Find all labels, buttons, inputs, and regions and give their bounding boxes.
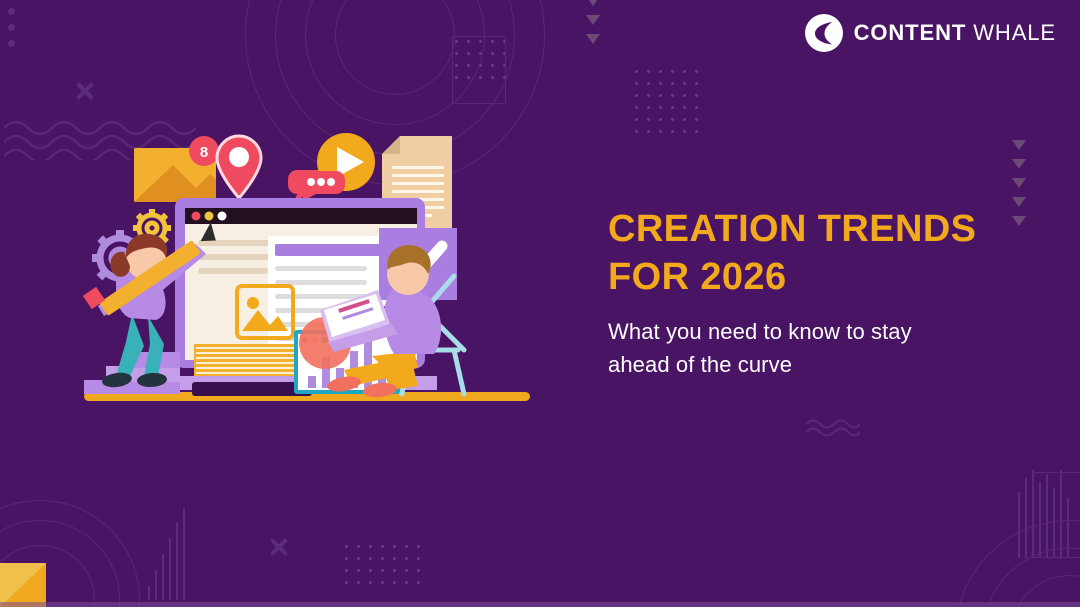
dot-grid-decoration <box>635 70 698 133</box>
triangle-column-decoration <box>586 0 600 44</box>
window-dot-white <box>218 212 227 221</box>
window-dot-red <box>192 212 201 221</box>
window-dot-yellow <box>205 212 214 221</box>
rectangle-outline-decoration <box>452 36 506 104</box>
location-pin-icon <box>217 136 261 198</box>
dot-grid-decoration <box>345 545 420 584</box>
brand-name: CONTENT WHALE <box>854 20 1056 46</box>
vertical-bars-decoration <box>1018 470 1069 558</box>
page-title: CREATION TRENDS FOR 2026 <box>608 205 1028 301</box>
bottom-accent-bar <box>0 602 1080 607</box>
headline-line-2: FOR 2026 <box>608 253 1028 301</box>
brand-logo[interactable]: CONTENT WHALE <box>805 14 1056 52</box>
arc-decoration <box>0 500 140 607</box>
email-envelope-icon: 8 <box>134 136 219 202</box>
dot-column-decoration <box>8 8 15 47</box>
dot-grid-decoration <box>455 40 506 79</box>
x-mark-decoration <box>268 536 290 558</box>
gold-triangle-decoration <box>0 563 46 607</box>
subhead-line-1: What you need to know to stay <box>608 315 1028 348</box>
brand-name-light: WHALE <box>973 20 1056 45</box>
slide-canvas: CONTENT WHALE CREATION TRENDS FOR 2026 W… <box>0 0 1080 607</box>
illustration-svg: 8 <box>72 118 542 418</box>
content-creation-illustration: 8 <box>72 118 542 418</box>
headline-line-1: CREATION TRENDS <box>608 205 1028 253</box>
whale-circle-logo-icon <box>805 14 843 52</box>
brand-name-bold: CONTENT <box>854 20 967 45</box>
card-header-bar <box>275 244 395 256</box>
chat-bubble-icon-left <box>297 171 345 202</box>
badge-count: 8 <box>200 144 208 161</box>
rectangle-outline-decoration <box>1032 472 1080 558</box>
page-subtitle: What you need to know to stay ahead of t… <box>608 315 1028 381</box>
arc-decoration <box>955 520 1080 607</box>
vertical-bars-decoration <box>148 508 185 600</box>
x-mark-decoration <box>74 80 96 102</box>
zigzag-decoration <box>806 418 860 436</box>
subhead-line-2: ahead of the curve <box>608 348 1028 381</box>
headline-block: CREATION TRENDS FOR 2026 What you need t… <box>608 205 1028 381</box>
